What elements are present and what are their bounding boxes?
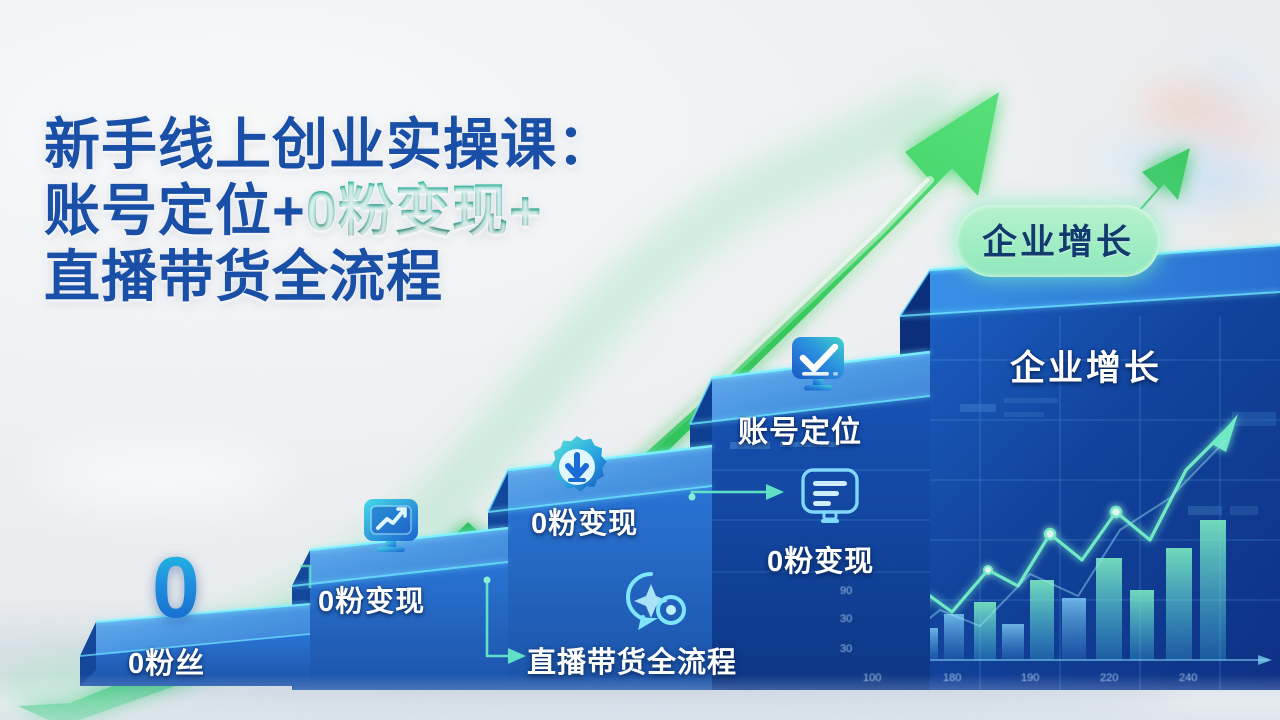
big-zero-graphic: 0 <box>152 545 200 631</box>
x-tick: 190 <box>1021 672 1039 684</box>
poster-canvas: 新手线上创业实操课： 账号定位+0粉变现+ 直播带货全流程 0 0粉丝 0粉变现… <box>0 0 1280 720</box>
live-sparkle-icon <box>617 566 689 637</box>
title-line-2: 账号定位+0粉变现+ <box>44 178 744 244</box>
x-tick: 180 <box>943 672 961 684</box>
step-label-positioning: 账号定位 <box>738 407 862 451</box>
gear-download-icon <box>543 433 611 506</box>
callout-live-commerce: 直播带货全流程 <box>527 639 737 681</box>
poster-title: 新手线上创业实操课： 账号定位+0粉变现+ 直播带货全流程 <box>44 112 744 310</box>
step-label-monetize-1: 0粉变现 <box>318 578 425 620</box>
callout-monetization: 0粉变现 <box>767 538 874 580</box>
x-tick: 100 <box>863 672 881 684</box>
title-line-1: 新手线上创业实操课： <box>44 112 744 178</box>
step-label-0fans: 0粉丝 <box>128 640 205 682</box>
monitor-check-icon <box>788 333 850 404</box>
growth-badge: 企业增长 <box>956 205 1160 277</box>
title-line-3: 直播带货全流程 <box>44 244 744 310</box>
x-tick: 220 <box>1100 672 1118 684</box>
monitor-growth-icon <box>358 492 424 563</box>
y-tick: 30 <box>840 613 852 625</box>
document-lines-icon <box>797 465 863 536</box>
title-segment-accent: 0粉变现+ <box>306 179 543 242</box>
title-segment: 新手线上创业实操课： <box>44 113 614 176</box>
title-segment: 账号定位+ <box>44 179 306 242</box>
step-label-monetize-2: 0粉变现 <box>531 500 638 542</box>
x-tick: 240 <box>1179 672 1197 684</box>
y-tick: 30 <box>840 643 852 655</box>
step-label-growth: 企业增长 <box>1010 340 1162 391</box>
title-segment: 直播带货全流程 <box>44 245 443 308</box>
y-tick: 90 <box>840 585 852 597</box>
